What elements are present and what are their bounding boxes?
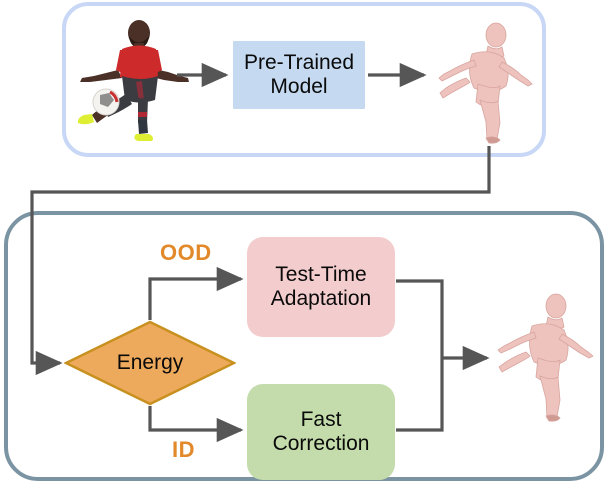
test-time-adaptation-label-line2: Adaptation <box>271 287 371 310</box>
pre-trained-model-label-line2: Model <box>270 75 327 98</box>
test-time-adaptation-label-line1: Test-Time <box>275 263 366 286</box>
body-mesh-refined <box>487 292 597 426</box>
pre-trained-model-box[interactable]: Pre-Trained Model <box>233 41 365 109</box>
energy-decision-node[interactable]: Energy <box>64 320 236 406</box>
test-time-adaptation-box[interactable]: Test-Time Adaptation <box>247 237 395 337</box>
soccer-player-photo <box>76 16 194 144</box>
branch-label-id: ID <box>172 437 195 463</box>
fast-correction-box[interactable]: Fast Correction <box>247 384 395 480</box>
fast-correction-label-line2: Correction <box>273 432 370 455</box>
branch-label-ood: OOD <box>160 240 212 266</box>
body-mesh-initial <box>428 22 536 146</box>
diagram-canvas: Pre-Trained Model Energy OO <box>0 0 610 484</box>
fast-correction-label-line1: Fast <box>301 408 342 431</box>
energy-decision-label: Energy <box>64 320 236 406</box>
pre-trained-model-label-line1: Pre-Trained <box>244 51 354 74</box>
